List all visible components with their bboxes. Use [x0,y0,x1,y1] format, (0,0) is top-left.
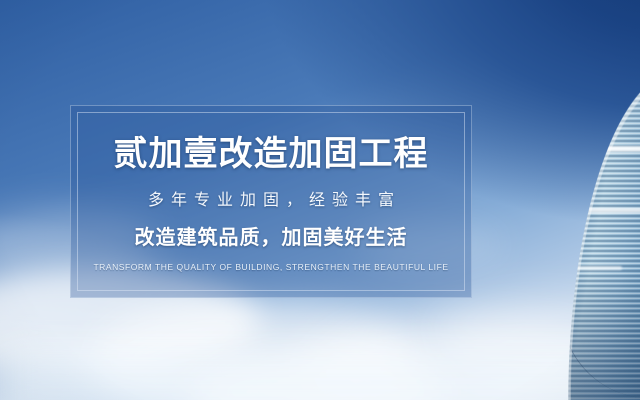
headline-panel: 贰加壹改造加固工程 多年专业加固，经验丰富 改造建筑品质，加固美好生活 TRAN… [70,105,472,298]
panel-english-caption: TRANSFORM THE QUALITY OF BUILDING, STREN… [93,263,448,272]
promo-banner: 贰加壹改造加固工程 多年专业加固，经验丰富 改造建筑品质，加固美好生活 TRAN… [0,0,640,400]
panel-subheadline: 多年专业加固，经验丰富 [141,193,401,209]
panel-text-group: 贰加壹改造加固工程 多年专业加固，经验丰富 改造建筑品质，加固美好生活 TRAN… [71,106,471,297]
panel-headline: 贰加壹改造加固工程 [114,137,429,171]
glass-skyscraper-image [552,58,640,400]
panel-tagline: 改造建筑品质，加固美好生活 [135,228,408,248]
tower-rim-highlight [552,58,640,400]
